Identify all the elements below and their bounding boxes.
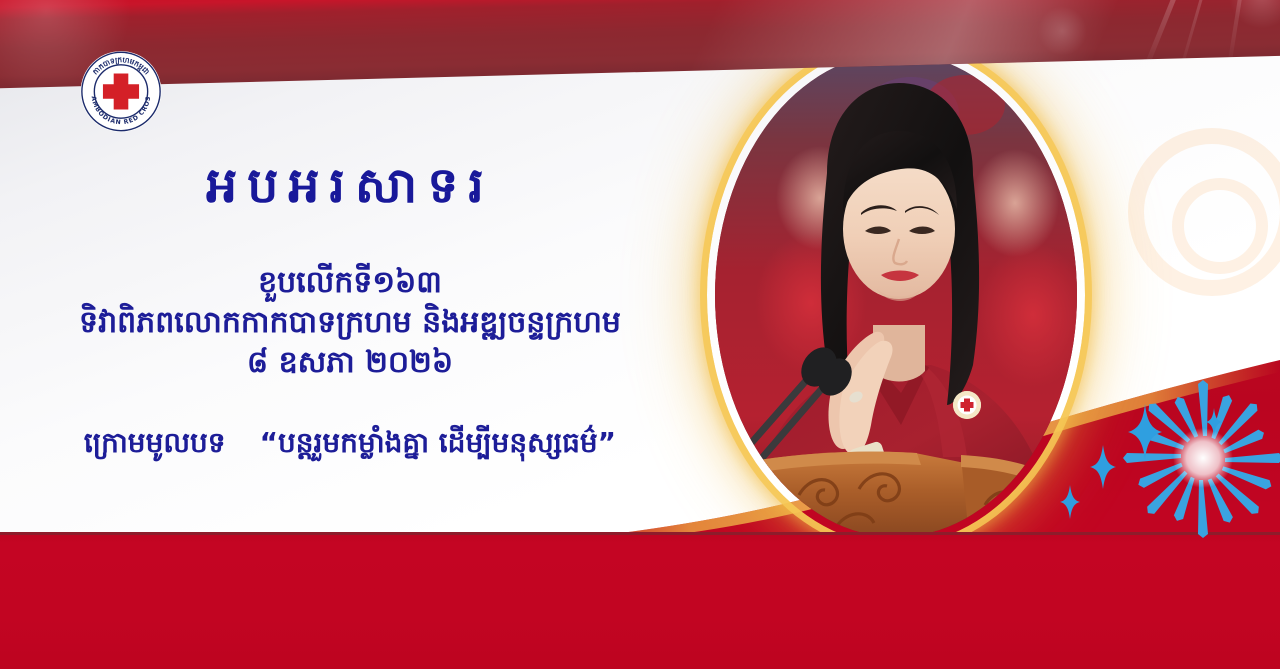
slogan-line: ក្រោមមូលបទ“បន្តរួមកម្លាំងគ្នា ដើម្បីមនុស… bbox=[0, 425, 700, 466]
page-title: អបអរសាទរ bbox=[0, 160, 700, 211]
event-banner: កាកបាទក្រហមកម្ពុជា CAMBODIAN RED CROSS អ… bbox=[0, 0, 1280, 669]
subheading-block: ខួបលើកទី១៦៣ ទិវាពិភពលោកកាកបាទក្រហម និងអឌ… bbox=[0, 263, 700, 384]
portrait-frame bbox=[707, 45, 1085, 545]
subheading-line-2: ទិវាពិភពលោកកាកបាទក្រហម និងអឌ្ឍចន្ទក្រហម bbox=[0, 303, 700, 343]
subheading-line-1: ខួបលើកទី១៦៣ bbox=[0, 263, 700, 303]
bottom-red-band bbox=[0, 532, 1280, 669]
cambodian-red-cross-logo: កាកបាទក្រហមកម្ពុជា CAMBODIAN RED CROSS bbox=[78, 48, 164, 135]
slogan-lead: ក្រោមមូលបទ bbox=[84, 426, 226, 459]
subheading-line-3: ៨ ឧសភា ២០២៦ bbox=[0, 342, 700, 383]
slogan-quote: “បន្តរួមកម្លាំងគ្នា ដើម្បីមនុស្សធម៌” bbox=[260, 426, 617, 459]
portrait-photo bbox=[715, 53, 1077, 537]
